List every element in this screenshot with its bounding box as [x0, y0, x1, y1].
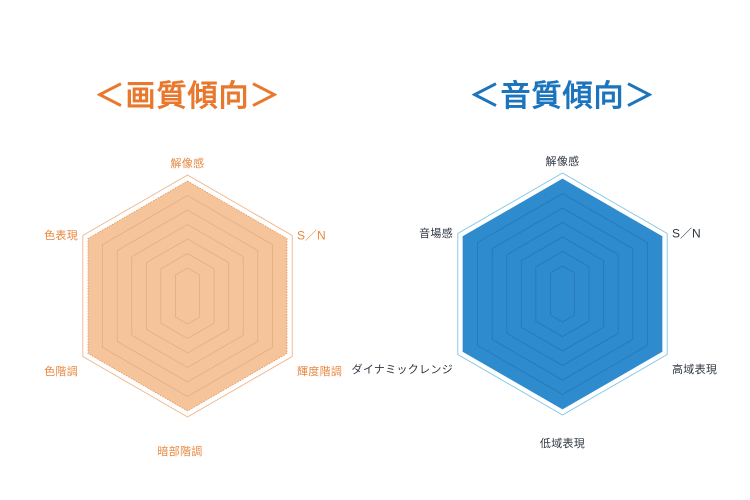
- left-radar-chart: 解像感 S／N 輝度階調 暗部階調 色階調 色表現: [0, 0, 375, 500]
- right-radar-svg: [375, 0, 750, 500]
- panel-image-quality: ＜画質傾向＞ 解像感 S／N 輝度階調 暗部階: [0, 0, 375, 500]
- left-axis-label-lower-left: 色階調: [44, 366, 78, 378]
- left-axis-label-upper-left: 色表現: [44, 229, 78, 241]
- left-axis-label-lower-right: 輝度階調: [297, 366, 342, 378]
- right-axis-label-lower-left: ダイナミックレンジ: [352, 364, 453, 376]
- right-axis-label-bottom: 低域表現: [540, 438, 585, 450]
- right-radar-chart: 解像感 S／N 高域表現 低域表現 ダイナミックレンジ 音場感: [375, 0, 750, 500]
- panel-sound-quality: ＜音質傾向＞ 解像感 S／N 高域表現 低域表: [375, 0, 750, 500]
- left-radar-svg: [0, 0, 375, 500]
- right-axis-label-top: 解像感: [546, 156, 580, 168]
- right-axis-label-upper-left: 音場感: [419, 227, 453, 239]
- right-axis-label-upper-right: S／N: [672, 227, 701, 240]
- left-axis-label-bottom: 暗部階調: [157, 446, 202, 458]
- right-axis-label-lower-right: 高域表現: [672, 364, 717, 376]
- radar-charts-container: ＜画質傾向＞ 解像感 S／N 輝度階調 暗部階: [0, 0, 750, 500]
- left-axis-label-upper-right: S／N: [297, 229, 326, 242]
- left-axis-label-top: 解像感: [171, 158, 205, 170]
